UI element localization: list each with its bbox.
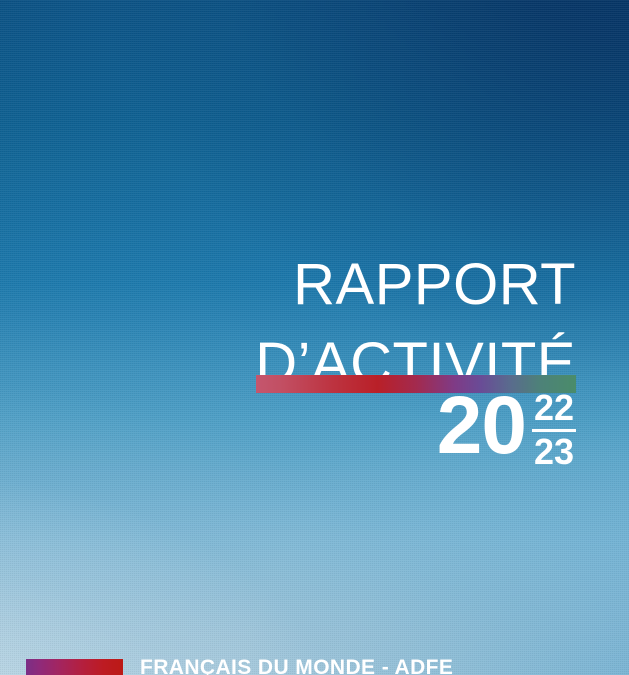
year-century-digits: 20 [437, 385, 526, 467]
logo-gradient-mark [26, 659, 123, 675]
year-fraction: 22 23 [532, 389, 576, 471]
year-block: 20 22 23 [256, 375, 576, 470]
report-cover-page: RAPPORT D’ACTIVITÉ 20 22 23 FRANÇAIS DU … [0, 0, 629, 675]
organisation-name: FRANÇAIS DU MONDE - ADFE [140, 657, 453, 675]
year-numerals: 20 22 23 [256, 385, 576, 470]
year-start-digits: 22 [534, 389, 574, 427]
organisation-logo: FRANÇAIS DU MONDE - ADFE [0, 655, 629, 675]
page-title-line-rapport: RAPPORT [0, 245, 576, 324]
year-end-digits: 23 [534, 433, 574, 471]
